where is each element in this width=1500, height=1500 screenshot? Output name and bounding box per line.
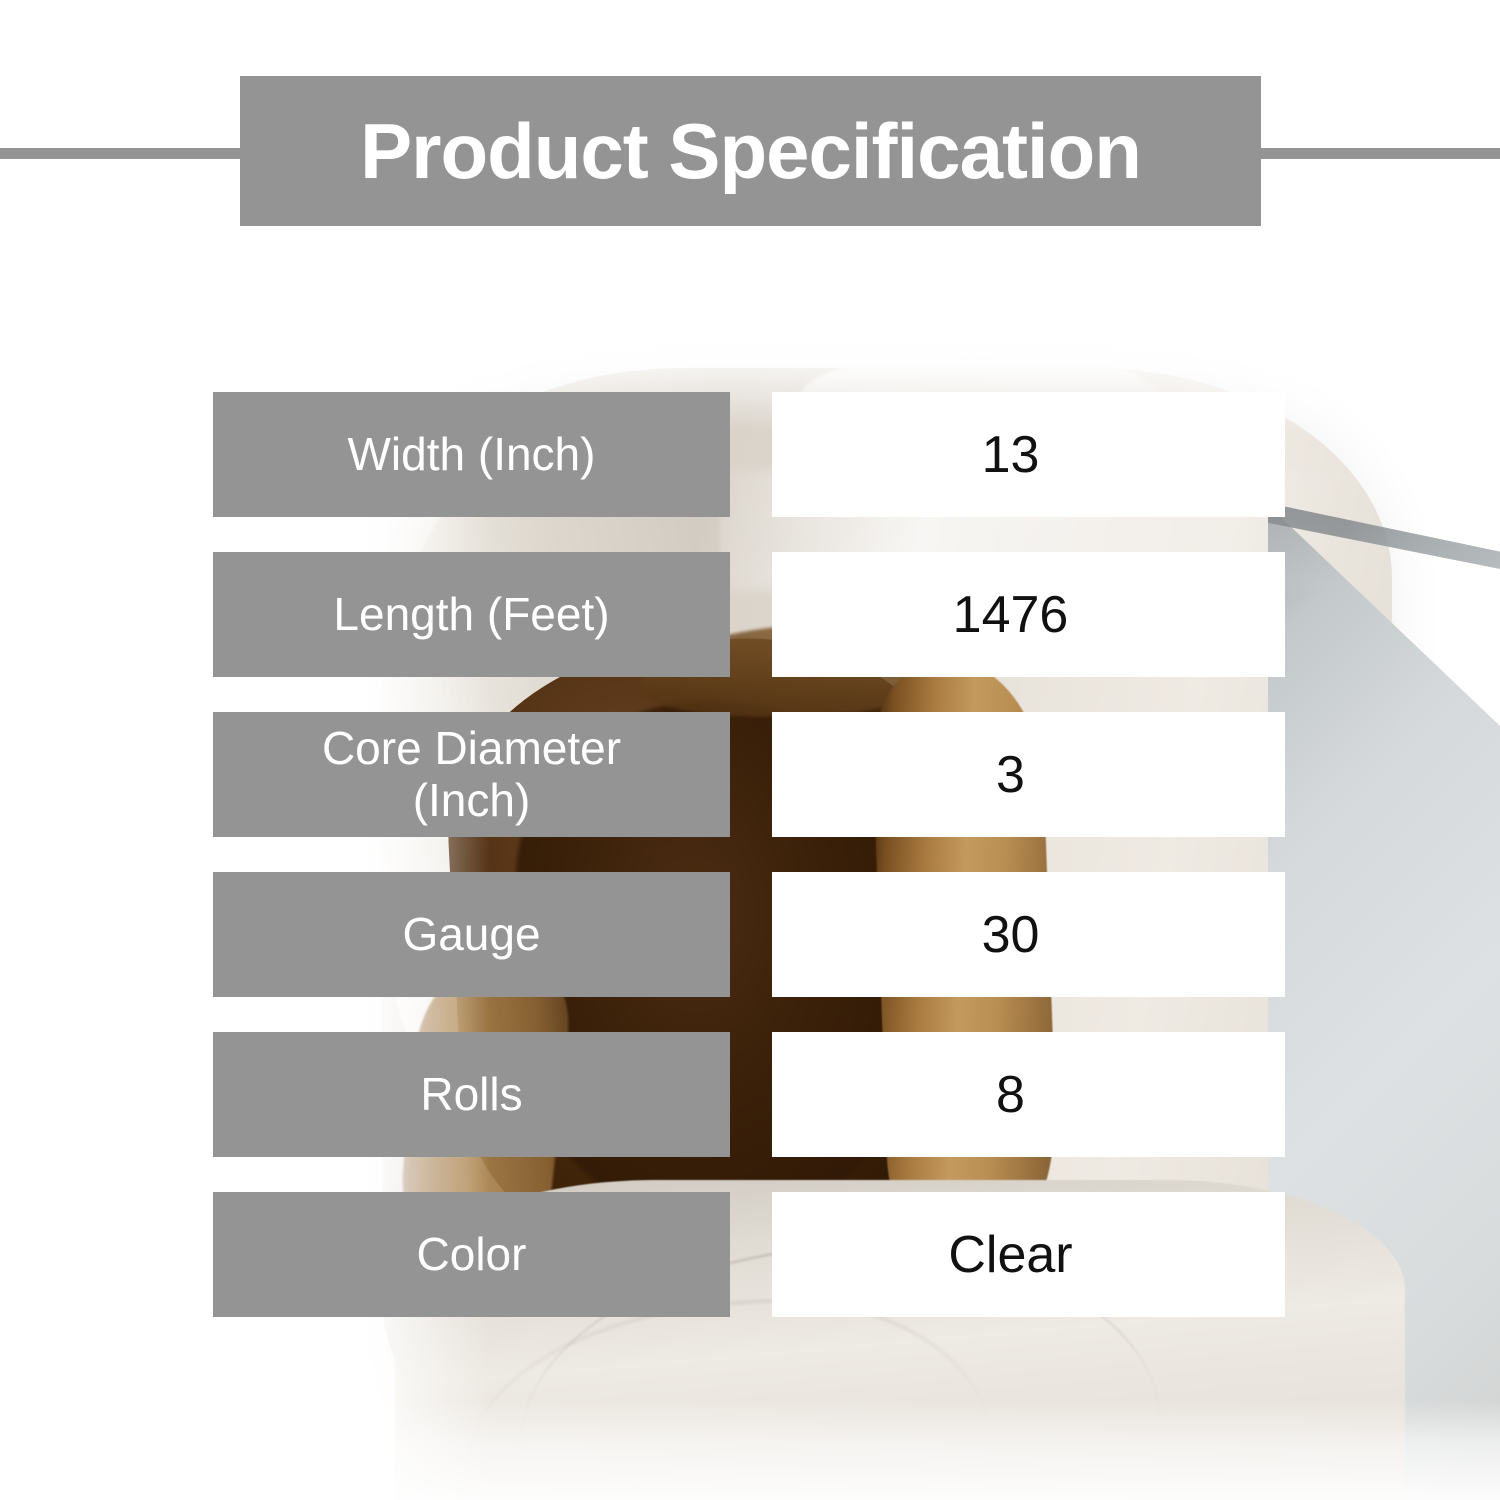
spec-label-text: Width (Inch) bbox=[348, 429, 596, 481]
spec-label-cell: Rolls bbox=[213, 1032, 730, 1157]
spec-value-cell: 8 bbox=[772, 1032, 1285, 1157]
spec-row: Length (Feet)1476 bbox=[0, 552, 1500, 677]
spec-row: Rolls8 bbox=[0, 1032, 1500, 1157]
specification-table: Width (Inch)13Length (Feet)1476Core Diam… bbox=[0, 0, 1500, 1500]
spec-row: Core Diameter (Inch)3 bbox=[0, 712, 1500, 837]
spec-value-cell: 30 bbox=[772, 872, 1285, 997]
spec-row: Width (Inch)13 bbox=[0, 392, 1500, 517]
spec-label-text: Rolls bbox=[420, 1069, 522, 1121]
spec-value-text: 1476 bbox=[953, 589, 1069, 641]
spec-value-cell: 1476 bbox=[772, 552, 1285, 677]
spec-label-cell: Width (Inch) bbox=[213, 392, 730, 517]
spec-value-text: 13 bbox=[982, 429, 1040, 481]
spec-value-text: 8 bbox=[996, 1069, 1025, 1121]
spec-row: Gauge30 bbox=[0, 872, 1500, 997]
spec-value-cell: Clear bbox=[772, 1192, 1285, 1317]
spec-label-text: Length (Feet) bbox=[333, 589, 609, 641]
spec-value-text: 30 bbox=[982, 909, 1040, 961]
spec-value-text: Clear bbox=[948, 1229, 1072, 1281]
spec-label-cell: Length (Feet) bbox=[213, 552, 730, 677]
spec-label-cell: Color bbox=[213, 1192, 730, 1317]
spec-label-cell: Core Diameter (Inch) bbox=[213, 712, 730, 837]
product-specification-infographic: Product Specification Width (Inch)13Leng… bbox=[0, 0, 1500, 1500]
spec-row: ColorClear bbox=[0, 1192, 1500, 1317]
spec-value-cell: 3 bbox=[772, 712, 1285, 837]
spec-label-text: Color bbox=[417, 1229, 527, 1281]
spec-label-text: Core Diameter (Inch) bbox=[322, 723, 621, 826]
spec-value-text: 3 bbox=[996, 749, 1025, 801]
spec-value-cell: 13 bbox=[772, 392, 1285, 517]
spec-label-text: Gauge bbox=[402, 909, 540, 961]
spec-label-cell: Gauge bbox=[213, 872, 730, 997]
